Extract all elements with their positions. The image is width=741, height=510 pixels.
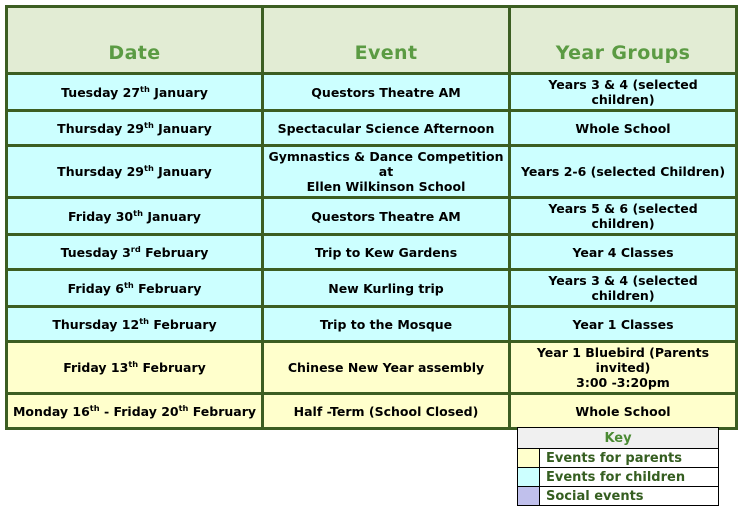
key-item-parents: Events for parents <box>518 449 719 468</box>
table-row: Tuesday 3rd February Trip to Kew Gardens… <box>7 235 737 270</box>
table-header: Date Event Year Groups <box>7 7 737 74</box>
key-legend: Key Events for parents Events for childr… <box>517 427 719 506</box>
key-label-parents: Events for parents <box>540 449 719 468</box>
table-body: Tuesday 27th January Questors Theatre AM… <box>7 74 737 429</box>
cell-date: Thursday 12th February <box>7 307 263 342</box>
table-header-row: Date Event Year Groups <box>7 7 737 74</box>
cell-year-groups: Year 1 Bluebird (Parents invited)3:00 -3… <box>510 342 737 394</box>
cell-year-groups: Year 1 Classes <box>510 307 737 342</box>
cell-event: New Kurling trip <box>263 270 510 307</box>
cell-event: Trip to Kew Gardens <box>263 235 510 270</box>
date-month: January <box>150 85 208 100</box>
table-row: Tuesday 27th January Questors Theatre AM… <box>7 74 737 111</box>
cell-date: Friday 13th February <box>7 342 263 394</box>
cell-date: Thursday 29th January <box>7 111 263 146</box>
cell-date: Friday 6th February <box>7 270 263 307</box>
event-line-2: Ellen Wilkinson School <box>268 179 504 194</box>
key-item-children: Events for children <box>518 468 719 487</box>
cell-year-groups: Years 3 & 4 (selected children) <box>510 74 737 111</box>
date-ordinal-suffix: th <box>90 402 100 412</box>
cell-event: Trip to the Mosque <box>263 307 510 342</box>
key-swatch-parents <box>518 449 540 468</box>
cell-date: Thursday 29th January <box>7 146 263 198</box>
cell-year-groups: Whole School <box>510 111 737 146</box>
cell-event: Gymnastics & Dance Competition atEllen W… <box>263 146 510 198</box>
date-month: February <box>141 245 209 260</box>
column-header-date: Date <box>7 7 263 74</box>
table-row: Thursday 29th January Spectacular Scienc… <box>7 111 737 146</box>
date-day: Tuesday 3 <box>61 245 131 260</box>
date-month: February <box>134 281 202 296</box>
date-month: January <box>154 121 212 136</box>
date-day: Friday 13 <box>63 360 128 375</box>
cell-year-groups: Years 5 & 6 (selected children) <box>510 198 737 235</box>
date-ordinal-suffix: th <box>144 163 154 173</box>
date-month: February <box>138 360 206 375</box>
date-ordinal-suffix: th <box>133 207 143 217</box>
year-groups-line-2: 3:00 -3:20pm <box>515 375 731 390</box>
table-row: Thursday 29th January Gymnastics & Dance… <box>7 146 737 198</box>
date-ordinal-suffix: th <box>140 83 150 93</box>
table-row: Friday 13th February Chinese New Year as… <box>7 342 737 394</box>
date-month: February <box>188 404 256 419</box>
table-row: Friday 30th January Questors Theatre AM … <box>7 198 737 235</box>
cell-date: Tuesday 3rd February <box>7 235 263 270</box>
cell-event: Questors Theatre AM <box>263 74 510 111</box>
cell-event: Spectacular Science Afternoon <box>263 111 510 146</box>
date-month: February <box>149 317 217 332</box>
date-ordinal-suffix: th <box>139 315 149 325</box>
key-title-row: Key <box>518 428 719 449</box>
cell-event: Questors Theatre AM <box>263 198 510 235</box>
cell-date: Friday 30th January <box>7 198 263 235</box>
date-day: Friday 30 <box>68 209 133 224</box>
date-month: January <box>154 164 212 179</box>
table-row: Friday 6th February New Kurling trip Yea… <box>7 270 737 307</box>
event-line-1: Gymnastics & Dance Competition at <box>268 149 504 179</box>
date-day: Thursday 29 <box>57 164 144 179</box>
date-day: Friday 6 <box>68 281 124 296</box>
date-month: January <box>143 209 201 224</box>
date-ordinal-suffix: th <box>128 359 138 369</box>
cell-date: Monday 16th - Friday 20th February <box>7 394 263 429</box>
date-ordinal-suffix: th <box>144 119 154 129</box>
cell-year-groups: Years 2-6 (selected Children) <box>510 146 737 198</box>
year-groups-line-1: Year 1 Bluebird (Parents invited) <box>515 345 731 375</box>
date-ordinal-suffix-2: th <box>179 402 189 412</box>
table-row: Monday 16th - Friday 20th February Half … <box>7 394 737 429</box>
date-day: Thursday 12 <box>52 317 139 332</box>
cell-date: Tuesday 27th January <box>7 74 263 111</box>
cell-event: Chinese New Year assembly <box>263 342 510 394</box>
events-calendar-table: Date Event Year Groups Tuesday 27th Janu… <box>5 5 738 430</box>
cell-year-groups: Year 4 Classes <box>510 235 737 270</box>
column-header-year-groups: Year Groups <box>510 7 737 74</box>
column-header-event: Event <box>263 7 510 74</box>
key-swatch-children <box>518 468 540 487</box>
key-label-children: Events for children <box>540 468 719 487</box>
date-range-second: - Friday 20 <box>100 404 179 419</box>
date-day: Monday 16 <box>13 404 90 419</box>
date-day: Thursday 29 <box>57 121 144 136</box>
key-swatch-social <box>518 487 540 506</box>
key-item-social: Social events <box>518 487 719 506</box>
date-ordinal-suffix: th <box>124 279 134 289</box>
cell-year-groups: Whole School <box>510 394 737 429</box>
cell-year-groups: Years 3 & 4 (selected children) <box>510 270 737 307</box>
table-row: Thursday 12th February Trip to the Mosqu… <box>7 307 737 342</box>
key-title: Key <box>518 428 719 449</box>
cell-event: Half -Term (School Closed) <box>263 394 510 429</box>
key-label-social: Social events <box>540 487 719 506</box>
date-day: Tuesday 27 <box>61 85 140 100</box>
date-ordinal-suffix: rd <box>131 243 141 253</box>
